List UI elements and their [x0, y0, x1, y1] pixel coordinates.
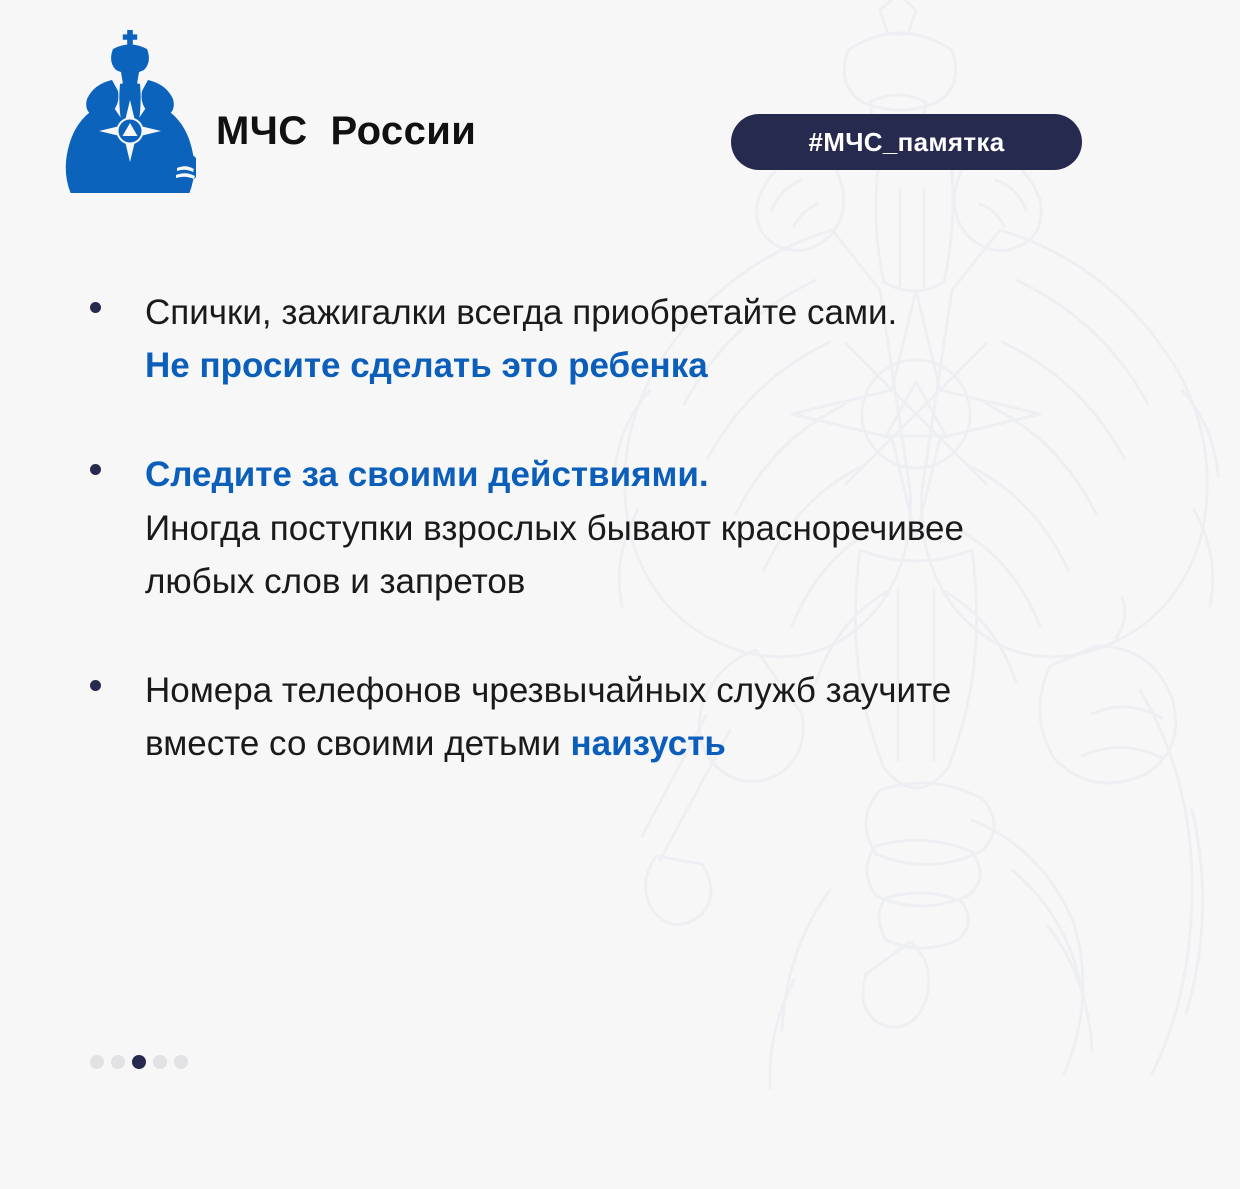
pagination-dots[interactable] [90, 1055, 188, 1069]
tip-segment: Спички, зажигалки всегда приобретайте са… [145, 293, 897, 332]
slide-header: МЧС России #МЧС_памятка [0, 0, 1240, 210]
tip-segment: Номера телефонов чрезвычайных служб зауч… [145, 671, 951, 763]
pagination-dot-active[interactable] [132, 1055, 146, 1069]
slide-canvas: МЧС России #МЧС_памятка Спички, зажигалк… [0, 0, 1240, 1189]
tip-text: Спички, зажигалки всегда приобретайте са… [145, 286, 975, 392]
page-title: МЧС России [216, 111, 476, 151]
list-item: Следите за своими действиями. Иногда пос… [0, 448, 1000, 608]
tip-segment-highlight: Не просите сделать это ребенка [145, 346, 708, 385]
list-item: Номера телефонов чрезвычайных служб зауч… [0, 664, 1000, 770]
bullet-dot-icon [90, 464, 101, 475]
pagination-dot[interactable] [111, 1055, 125, 1069]
tip-segment-highlight: Следите за своими действиями. [145, 455, 709, 494]
tip-text: Номера телефонов чрезвычайных служб зауч… [145, 664, 975, 770]
bullet-dot-icon [90, 680, 101, 691]
list-item: Спички, зажигалки всегда приобретайте са… [0, 286, 1000, 392]
tips-list: Спички, зажигалки всегда приобретайте са… [0, 286, 1000, 770]
pagination-dot[interactable] [90, 1055, 104, 1069]
pagination-dot[interactable] [174, 1055, 188, 1069]
emercom-eagle-logo-icon [64, 28, 196, 193]
tip-segment-highlight: наизусть [571, 724, 726, 763]
bullet-dot-icon [90, 302, 101, 313]
hashtag-badge[interactable]: #МЧС_памятка [731, 114, 1082, 170]
pagination-dot[interactable] [153, 1055, 167, 1069]
tip-segment: Иногда поступки взрослых бывают красноре… [145, 509, 964, 601]
hashtag-badge-label: #МЧС_памятка [809, 129, 1005, 155]
tip-text: Следите за своими действиями. Иногда пос… [145, 448, 975, 608]
